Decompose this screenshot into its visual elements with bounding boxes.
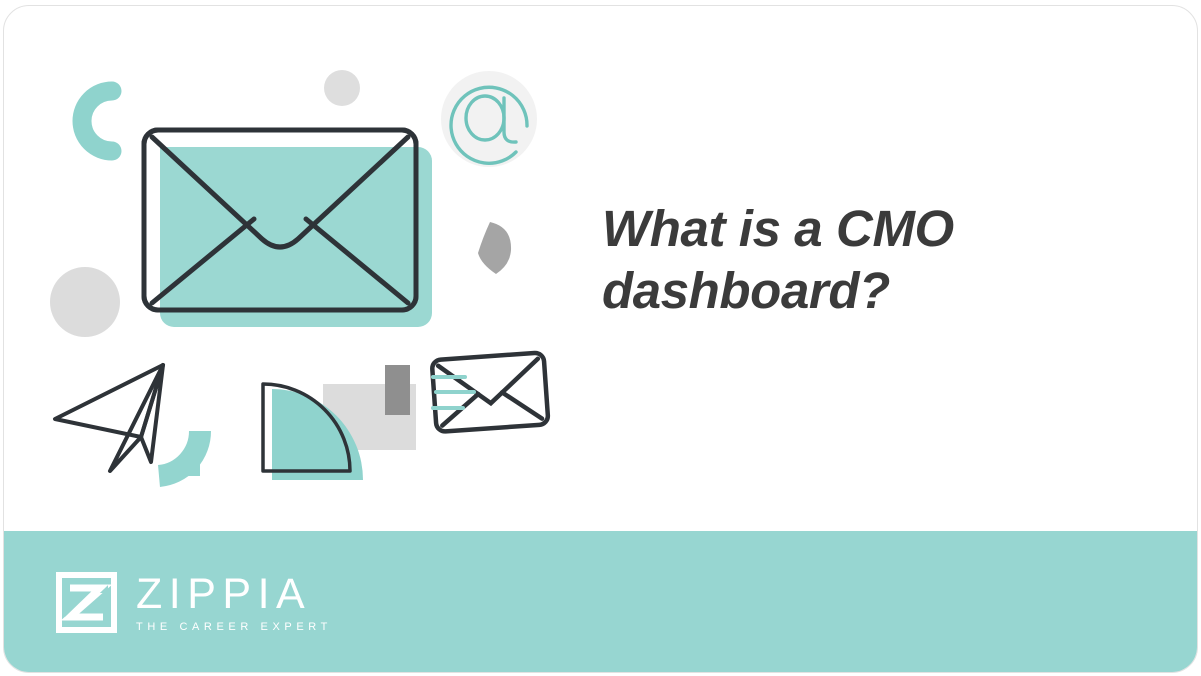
zippia-logo[interactable]: ZIPPIA THE CAREER EXPERT — [56, 572, 332, 633]
gray-circle-small — [324, 70, 360, 106]
promo-card: What is a CMO dashboard? ZIPPIA THE CARE… — [3, 5, 1198, 673]
logo-wordmark: ZIPPIA — [136, 573, 332, 616]
logo-tagline: THE CAREER EXPERT — [136, 621, 332, 633]
teal-c-shape — [82, 91, 112, 151]
illustration-canvas — [4, 6, 604, 533]
zippia-z-mark-icon — [56, 572, 117, 633]
dark-gray-rect — [385, 365, 410, 415]
email-marketing-illustration — [4, 6, 604, 533]
gray-swoosh — [478, 222, 511, 274]
teal-quarter-arc — [159, 431, 200, 476]
paper-plane — [55, 365, 163, 471]
at-symbol-badge — [441, 71, 537, 167]
logo-text-block: ZIPPIA THE CAREER EXPERT — [136, 573, 332, 633]
gray-circle-large — [50, 267, 120, 337]
main-envelope — [144, 130, 432, 327]
page-title: What is a CMO dashboard? — [602, 198, 1162, 322]
